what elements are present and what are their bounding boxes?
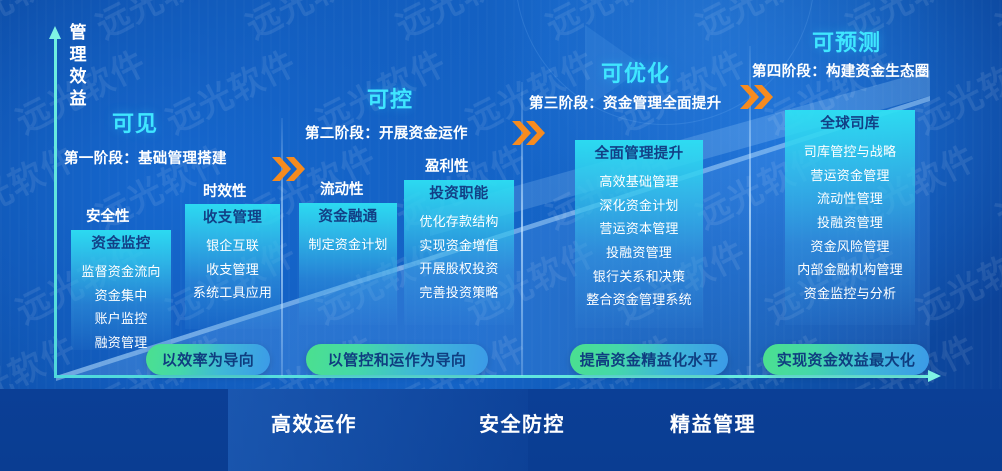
stage-3-title: 可优化: [601, 56, 670, 88]
stage-2-phase: 第二阶段：开展资金运作: [305, 122, 468, 143]
card-item: 资金集中: [71, 284, 171, 308]
chevron-right-icon-1: [272, 156, 306, 182]
stage-3-pill-label: 提高资金精益化水平: [580, 349, 719, 370]
stage-3-phase: 第三阶段：资金管理全面提升: [529, 92, 721, 113]
stage-2-card-2[interactable]: 投资职能 优化存款结构 实现资金增值 开展股权投资 完善投资策略: [404, 180, 514, 325]
y-axis: [54, 36, 57, 378]
stage-3-card-1[interactable]: 全面管理提升 高效基础管理 深化资金计划 营运资本管理 投融资管理 银行关系和决…: [575, 140, 703, 328]
stage-4-pill-label: 实现资金效益最大化: [777, 349, 916, 370]
card-item: 营运资金管理: [785, 164, 915, 188]
chevron-right-icon-3: [740, 84, 774, 110]
card-item: 资金风险管理: [785, 235, 915, 259]
card-item: 银企互联: [185, 234, 280, 258]
bottom-caption-3: 精益管理: [670, 408, 756, 437]
bottom-caption-2: 安全防控: [479, 408, 565, 437]
card-item: 内部金融机构管理: [785, 258, 915, 282]
card-item: 实现资金增值: [404, 234, 514, 258]
card-item: 账户监控: [71, 307, 171, 331]
stage-4-title: 可预测: [812, 25, 881, 57]
card-item: 资金监控与分析: [785, 282, 915, 306]
card-item: 优化存款结构: [404, 210, 514, 234]
card-item: 制定资金计划: [299, 233, 397, 257]
card-head: 收支管理: [185, 211, 280, 227]
stage-1-category-1: 安全性: [86, 205, 130, 226]
card-item: 流动性管理: [785, 187, 915, 211]
card-item: 银行关系和决策: [575, 265, 703, 289]
card-head: 全球司库: [785, 117, 915, 133]
stage-1-pill-label: 以效率为导向: [162, 349, 254, 370]
card-item: 司库管控与战略: [785, 140, 915, 164]
card-item: 投融资管理: [575, 241, 703, 265]
chevron-right-icon-2: [512, 120, 546, 146]
card-item: 系统工具应用: [185, 281, 280, 305]
stage-2-category-2: 盈利性: [425, 155, 469, 176]
card-item: 深化资金计划: [575, 194, 703, 218]
stage-4-phase: 第四阶段：构建资金生态圈: [752, 60, 930, 81]
card-item: 高效基础管理: [575, 170, 703, 194]
card-head: 资金融通: [299, 210, 397, 226]
stage-3-pill[interactable]: 提高资金精益化水平: [570, 344, 728, 375]
card-item: 营运资本管理: [575, 217, 703, 241]
stage-1-card-1[interactable]: 资金监控 监督资金流向 资金集中 账户监控 融资管理: [71, 230, 171, 350]
card-item: 收支管理: [185, 258, 280, 282]
card-item: 开展股权投资: [404, 257, 514, 281]
card-item: 完善投资策略: [404, 281, 514, 305]
stage-1-phase: 第一阶段：基础管理搭建: [64, 147, 227, 168]
card-head: 投资职能: [404, 187, 514, 203]
card-item: 投融资管理: [785, 211, 915, 235]
stage-1-pill[interactable]: 以效率为导向: [146, 344, 270, 375]
card-item: 整合资金管理系统: [575, 288, 703, 312]
up-arrow-icon: [49, 26, 61, 39]
y-axis-label: 管理效益: [63, 22, 93, 110]
stage-2-card-1[interactable]: 资金融通 制定资金计划: [299, 203, 397, 325]
stage-2-pill-label: 以管控和运作为导向: [328, 349, 467, 370]
stage-2-pill[interactable]: 以管控和运作为导向: [306, 344, 488, 375]
stage-2-category-1: 流动性: [320, 178, 364, 199]
stage-1-title: 可见: [112, 106, 158, 138]
x-axis: [54, 375, 930, 378]
right-arrow-icon: [928, 370, 941, 382]
stage-2-title: 可控: [367, 82, 413, 114]
stage-1-card-2[interactable]: 收支管理 银企互联 收支管理 系统工具应用: [185, 204, 280, 329]
stage-4-pill[interactable]: 实现资金效益最大化: [763, 344, 929, 375]
stage-4-card-1[interactable]: 全球司库 司库管控与战略 营运资金管理 流动性管理 投融资管理 资金风险管理 内…: [785, 110, 915, 325]
bottom-caption-1: 高效运作: [271, 408, 357, 437]
card-head: 资金监控: [71, 237, 171, 253]
stage-1-category-2: 时效性: [203, 180, 247, 201]
card-item: 监督资金流向: [71, 260, 171, 284]
card-head: 全面管理提升: [575, 147, 703, 163]
